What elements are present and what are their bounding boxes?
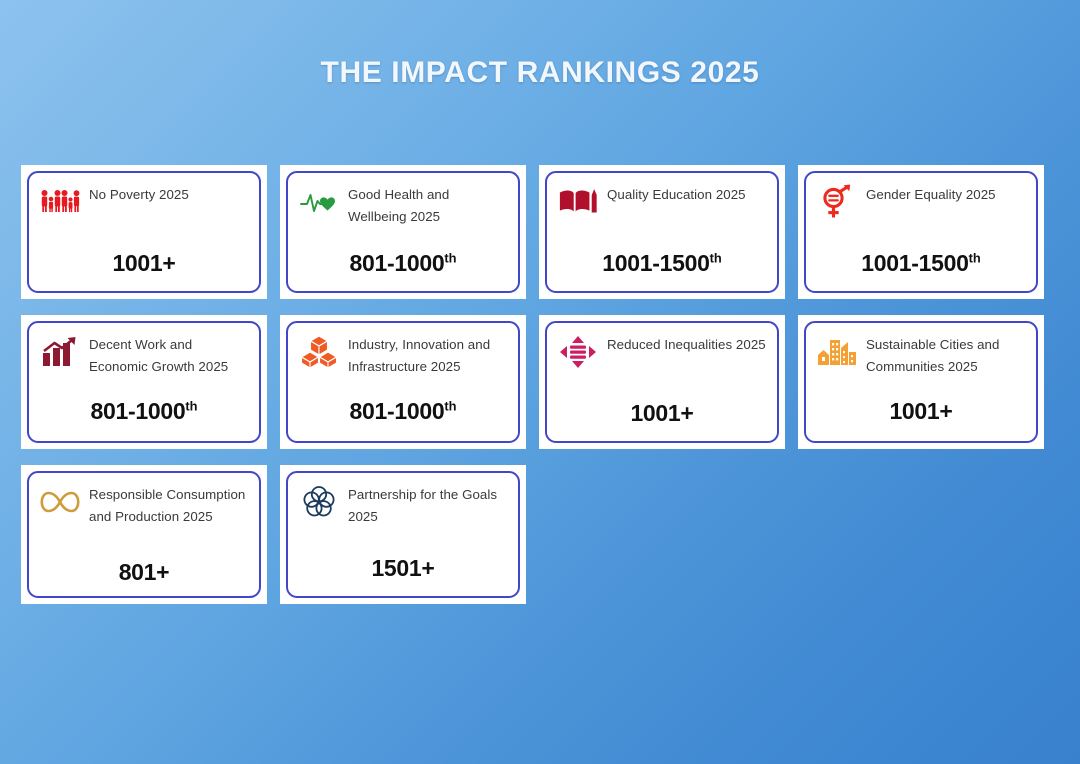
four-way-arrows-equal-icon <box>558 333 598 371</box>
card-header: Good Health and Wellbeing 2025 <box>299 183 507 227</box>
card-panel: Partnership for the Goals 2025 1501+ <box>286 471 520 598</box>
card-label: Gender Equality 2025 <box>866 183 996 206</box>
card-rank: 801-1000th <box>288 250 518 277</box>
card-panel: No Poverty 2025 1001+ <box>27 171 261 293</box>
page-title: THE IMPACT RANKINGS 2025 <box>0 56 1080 90</box>
card-header: Sustainable Cities and Communities 2025 <box>817 333 1025 377</box>
card-label: Reduced Inequalities 2025 <box>607 333 766 356</box>
card-label: Industry, Innovation and Infrastructure … <box>348 333 507 377</box>
card-panel: Responsible Consumption and Production 2… <box>27 471 261 598</box>
gender-equality-icon <box>817 183 857 221</box>
card-panel: Good Health and Wellbeing 2025 801-1000t… <box>286 171 520 293</box>
card-label: Responsible Consumption and Production 2… <box>89 483 248 527</box>
card-rank: 1001+ <box>547 400 777 427</box>
card-label: Good Health and Wellbeing 2025 <box>348 183 507 227</box>
card-rank: 1001-1500th <box>806 250 1036 277</box>
card-rank: 1001+ <box>806 398 1036 425</box>
card-label: Partnership for the Goals 2025 <box>348 483 507 527</box>
stacked-cubes-icon <box>299 333 339 371</box>
card-panel: Decent Work and Economic Growth 2025 801… <box>27 321 261 443</box>
interlocking-circles-rosette-icon <box>299 483 339 521</box>
card-panel: Quality Education 2025 1001-1500th <box>545 171 779 293</box>
ranking-card-grid: No Poverty 2025 1001+ Good Health and We… <box>21 165 1061 604</box>
card-label: No Poverty 2025 <box>89 183 189 206</box>
card-label: Quality Education 2025 <box>607 183 746 206</box>
card-rank: 801-1000th <box>29 398 259 425</box>
heartbeat-pulse-icon <box>299 183 339 221</box>
card-rank: 1501+ <box>288 555 518 582</box>
ranking-card-good-health[interactable]: Good Health and Wellbeing 2025 801-1000t… <box>280 165 526 299</box>
card-header: Quality Education 2025 <box>558 183 766 221</box>
card-panel: Sustainable Cities and Communities 2025 … <box>804 321 1038 443</box>
ranking-card-industry-innovation[interactable]: Industry, Innovation and Infrastructure … <box>280 315 526 449</box>
card-rank: 1001-1500th <box>547 250 777 277</box>
city-buildings-icon <box>817 333 857 371</box>
ranking-card-no-poverty[interactable]: No Poverty 2025 1001+ <box>21 165 267 299</box>
card-label: Decent Work and Economic Growth 2025 <box>89 333 248 377</box>
card-rank: 801-1000th <box>288 398 518 425</box>
card-header: Partnership for the Goals 2025 <box>299 483 507 527</box>
ranking-card-decent-work[interactable]: Decent Work and Economic Growth 2025 801… <box>21 315 267 449</box>
card-rank: 1001+ <box>29 250 259 277</box>
ranking-card-responsible-consumption[interactable]: Responsible Consumption and Production 2… <box>21 465 267 604</box>
ranking-card-quality-education[interactable]: Quality Education 2025 1001-1500th <box>539 165 785 299</box>
card-header: Decent Work and Economic Growth 2025 <box>40 333 248 377</box>
infinity-loop-icon <box>40 483 80 521</box>
ranking-card-gender-equality[interactable]: Gender Equality 2025 1001-1500th <box>798 165 1044 299</box>
open-book-pencil-icon <box>558 183 598 221</box>
ranking-card-reduced-inequalities[interactable]: Reduced Inequalities 2025 1001+ <box>539 315 785 449</box>
card-header: Gender Equality 2025 <box>817 183 1025 221</box>
card-header: No Poverty 2025 <box>40 183 248 221</box>
card-header: Industry, Innovation and Infrastructure … <box>299 333 507 377</box>
ranking-card-partnership-goals[interactable]: Partnership for the Goals 2025 1501+ <box>280 465 526 604</box>
card-header: Responsible Consumption and Production 2… <box>40 483 248 527</box>
card-rank: 801+ <box>29 559 259 586</box>
card-panel: Gender Equality 2025 1001-1500th <box>804 171 1038 293</box>
card-header: Reduced Inequalities 2025 <box>558 333 766 371</box>
card-panel: Industry, Innovation and Infrastructure … <box>286 321 520 443</box>
card-label: Sustainable Cities and Communities 2025 <box>866 333 1025 377</box>
growth-bar-chart-icon <box>40 333 80 371</box>
card-panel: Reduced Inequalities 2025 1001+ <box>545 321 779 443</box>
ranking-card-sustainable-cities[interactable]: Sustainable Cities and Communities 2025 … <box>798 315 1044 449</box>
people-family-icon <box>40 183 80 221</box>
